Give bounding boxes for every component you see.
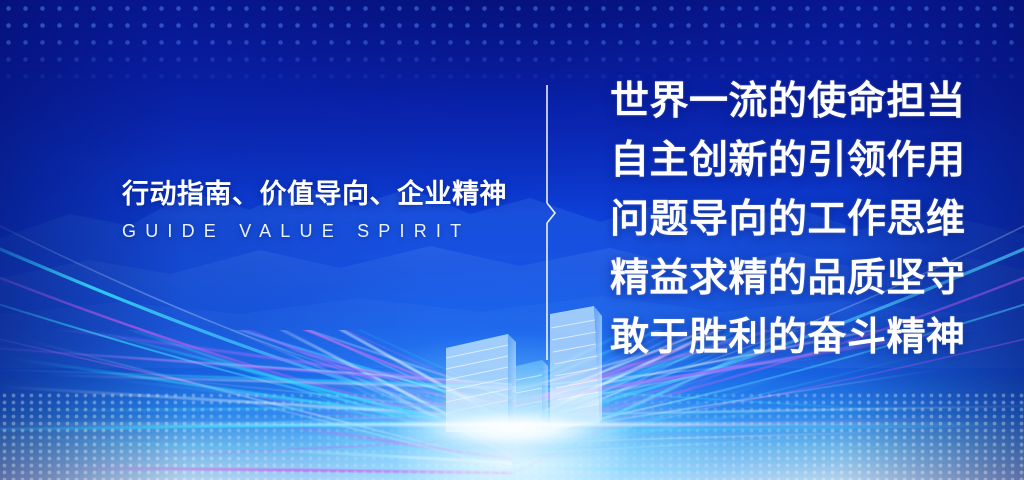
divider [543, 85, 559, 360]
left-subtitle: GUIDE VALUE SPIRIT [122, 221, 522, 242]
chevron-right-icon [547, 203, 555, 223]
right-line-5: 敢于胜利的奋斗精神 [610, 308, 990, 367]
right-line-1: 世界一流的使命担当 [610, 72, 990, 131]
right-text-block: 世界一流的使命担当 自主创新的引领作用 问题导向的工作思维 精益求精的品质坚守 … [610, 72, 990, 480]
right-line-2: 自主创新的引领作用 [610, 131, 990, 190]
right-line-3: 问题导向的工作思维 [610, 190, 990, 249]
left-text-block: 行动指南、价值导向、企业精神 GUIDE VALUE SPIRIT [122, 178, 522, 480]
right-line-4: 精益求精的品质坚守 [610, 249, 990, 308]
banner-canvas: 行动指南、价值导向、企业精神 GUIDE VALUE SPIRIT 世界一流的使… [0, 0, 1024, 480]
left-title: 行动指南、价值导向、企业精神 [122, 178, 522, 212]
